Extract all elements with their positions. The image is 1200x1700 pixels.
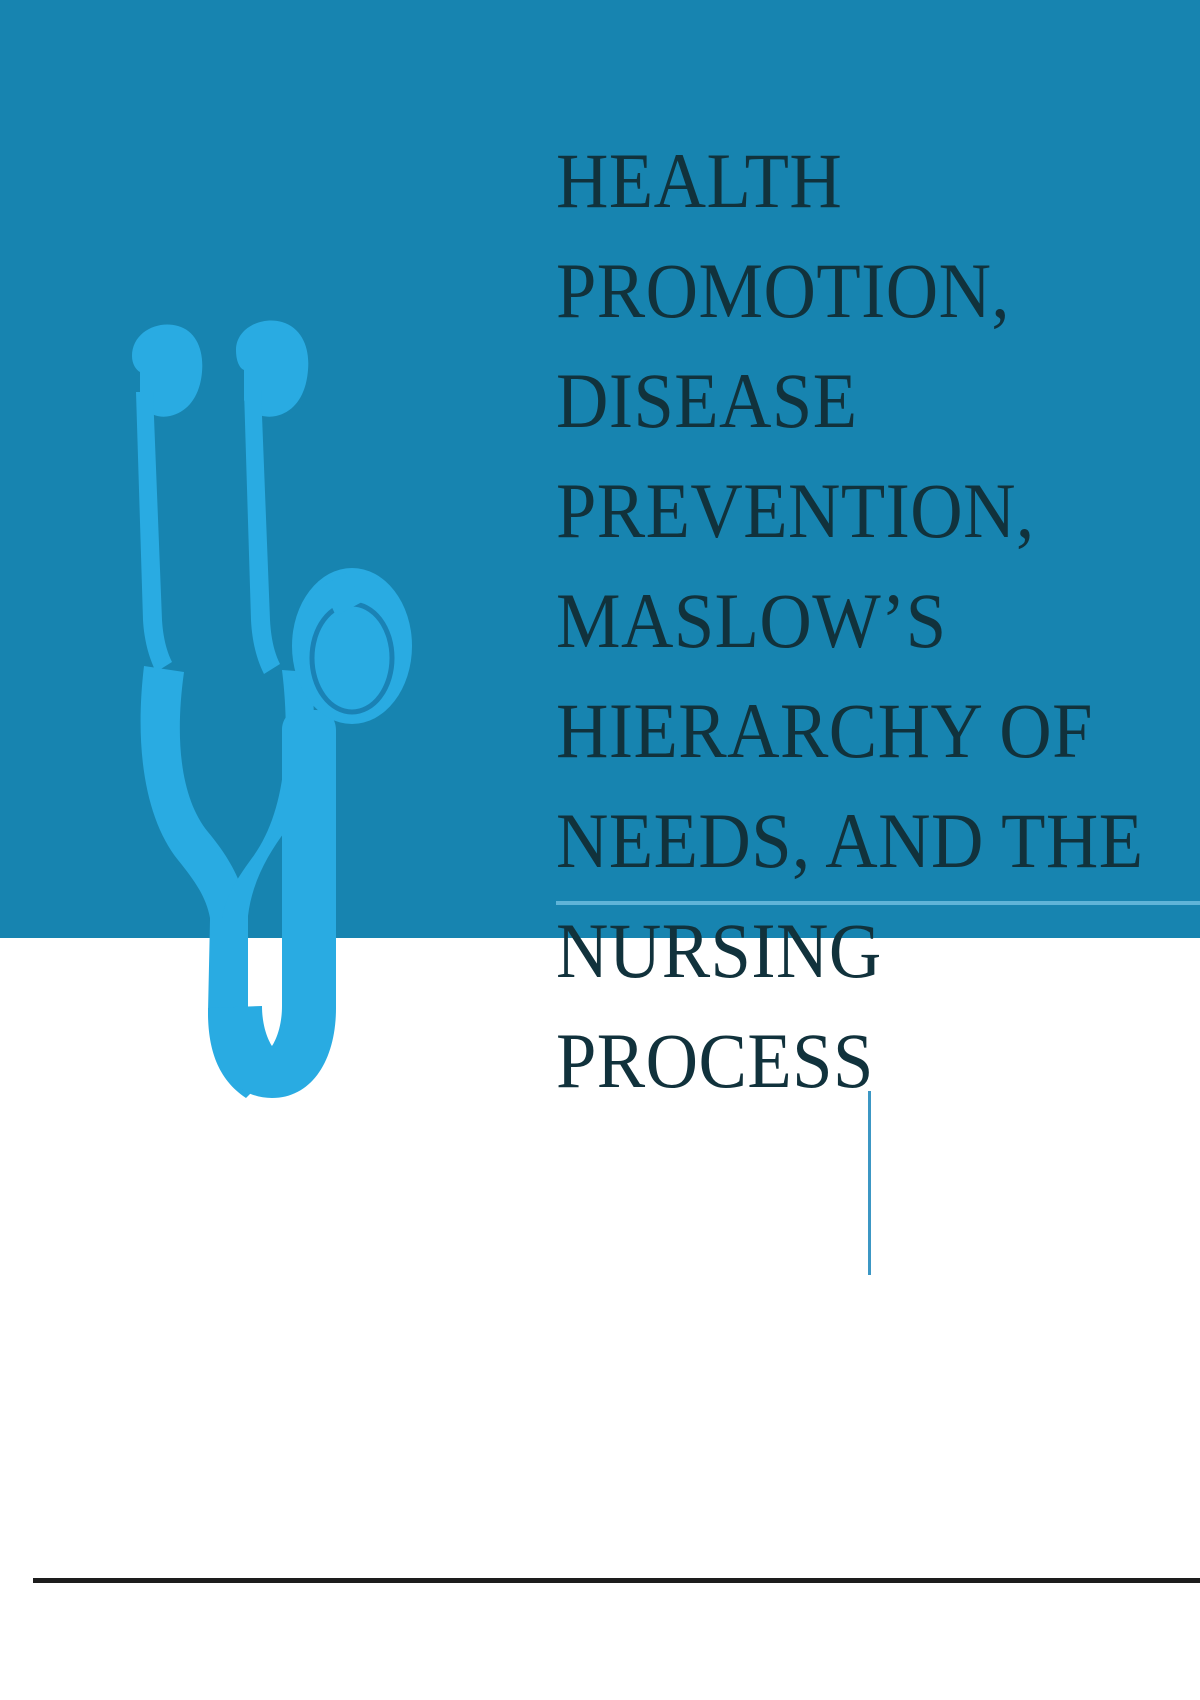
bottom-divider-rule [33, 1578, 1200, 1583]
vertical-accent-rule [868, 1091, 871, 1275]
cover-slide-page: HEALTH PROMOTION, DISEASE PREVENTION, MA… [0, 0, 1200, 1700]
stethoscope-left-tube [132, 324, 202, 672]
title-block: HEALTH PROMOTION, DISEASE PREVENTION, MA… [556, 126, 1200, 1116]
page-title: HEALTH PROMOTION, DISEASE PREVENTION, MA… [556, 126, 1200, 1116]
title-underline-rule [556, 901, 1200, 905]
stethoscope-icon [96, 320, 496, 1110]
